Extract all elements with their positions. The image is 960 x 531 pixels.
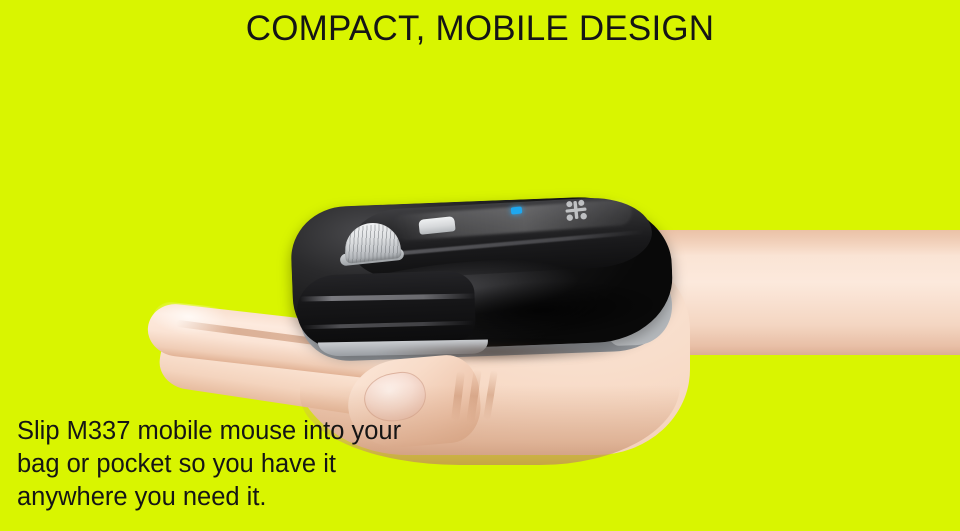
status-led-indicator: [511, 206, 523, 214]
logitech-logo-icon: [562, 198, 590, 223]
mouse-left-button[interactable]: [296, 270, 476, 350]
description-line-2: bag or pocket so you have it: [17, 448, 447, 481]
product-description: Slip M337 mobile mouse into your bag or …: [17, 415, 447, 514]
description-line-1: Slip M337 mobile mouse into your: [17, 415, 447, 448]
scroll-wheel[interactable]: [342, 220, 402, 264]
product-feature-slide: COMPACT, MOBILE DESIGN: [0, 0, 960, 531]
product-photo: [0, 55, 960, 475]
description-line-3: anywhere you need it.: [17, 481, 447, 514]
page-title: COMPACT, MOBILE DESIGN: [0, 8, 960, 50]
